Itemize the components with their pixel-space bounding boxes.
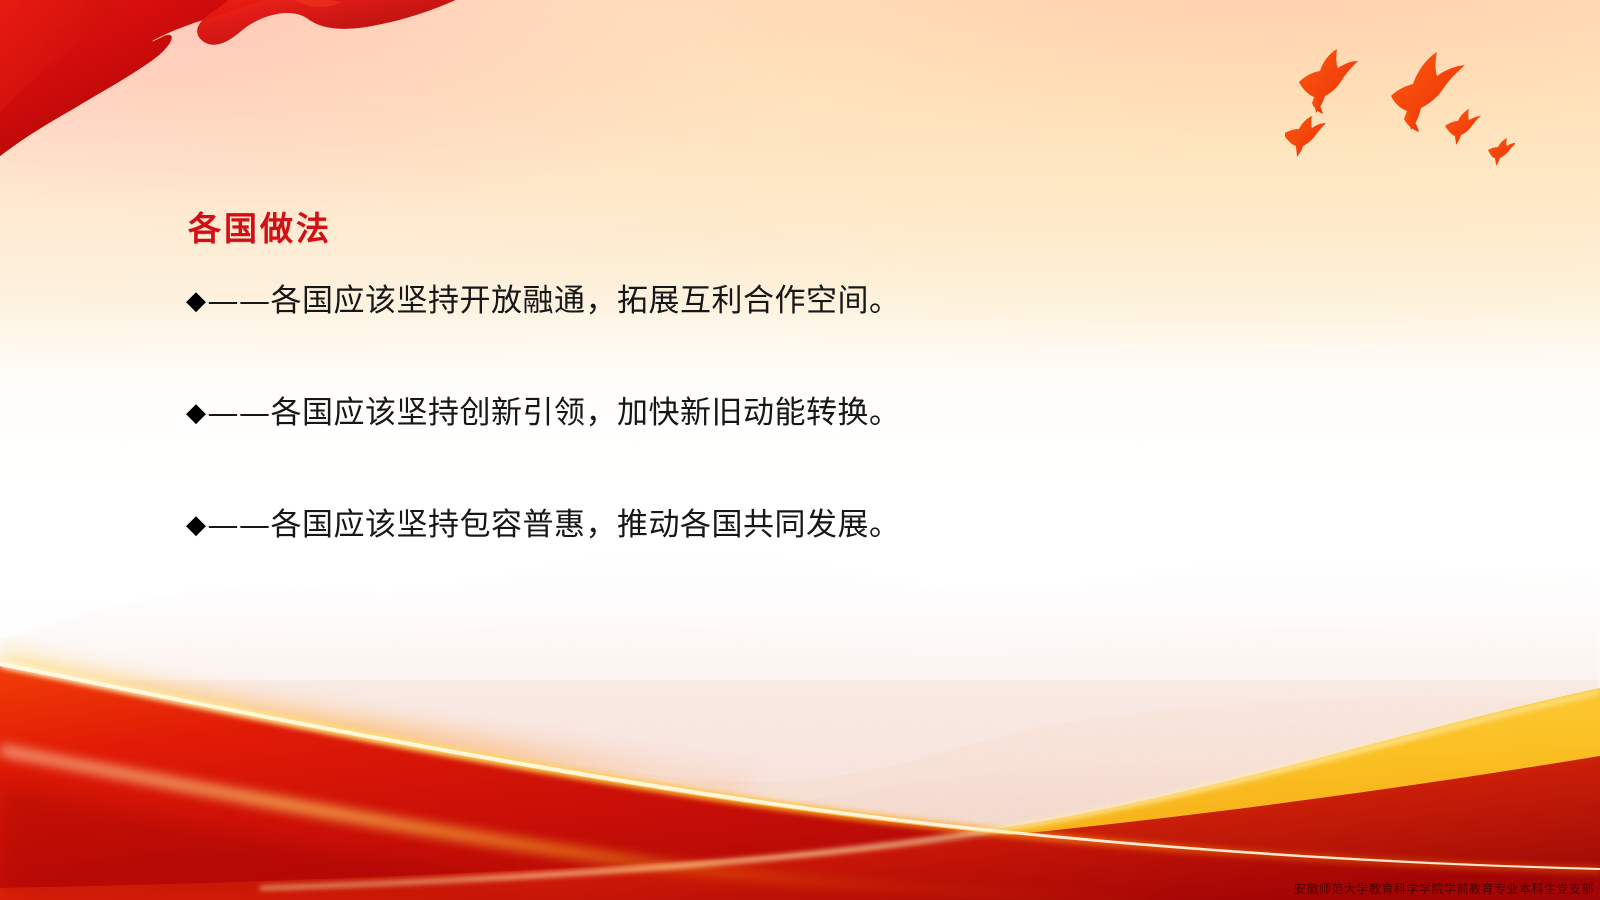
diamond-bullet-icon: ◆	[186, 398, 207, 428]
page-title: 各国做法	[188, 212, 1186, 245]
footer-watermark: 安徽师范大学教育科学学院学前教育专业本科生党支部	[1294, 880, 1594, 897]
diamond-bullet-icon: ◆	[186, 510, 207, 540]
red-silk-flag-decoration	[0, 0, 460, 186]
list-item-text: ——各国应该坚持包容普惠，推动各国共同发展。	[208, 507, 901, 543]
red-gold-ribbon-decoration	[0, 570, 1600, 900]
flying-doves-icon	[1285, 48, 1515, 168]
slide-content: 各国做法 ◆——各国应该坚持开放融通，拓展互利合作空间。 ◆——各国应该坚持创新…	[186, 212, 1186, 545]
list-item-text: ——各国应该坚持开放融通，拓展互利合作空间。	[208, 283, 901, 319]
list-item: ◆——各国应该坚持开放融通，拓展互利合作空间。	[186, 283, 1186, 320]
list-item: ◆——各国应该坚持创新引领，加快新旧动能转换。	[186, 395, 1186, 432]
list-item-text: ——各国应该坚持创新引领，加快新旧动能转换。	[208, 395, 901, 431]
list-item: ◆——各国应该坚持包容普惠，推动各国共同发展。	[186, 507, 1186, 544]
bullet-list: ◆——各国应该坚持开放融通，拓展互利合作空间。 ◆——各国应该坚持创新引领，加快…	[186, 283, 1186, 545]
diamond-bullet-icon: ◆	[186, 286, 207, 316]
presentation-slide: 各国做法 ◆——各国应该坚持开放融通，拓展互利合作空间。 ◆——各国应该坚持创新…	[0, 0, 1600, 900]
